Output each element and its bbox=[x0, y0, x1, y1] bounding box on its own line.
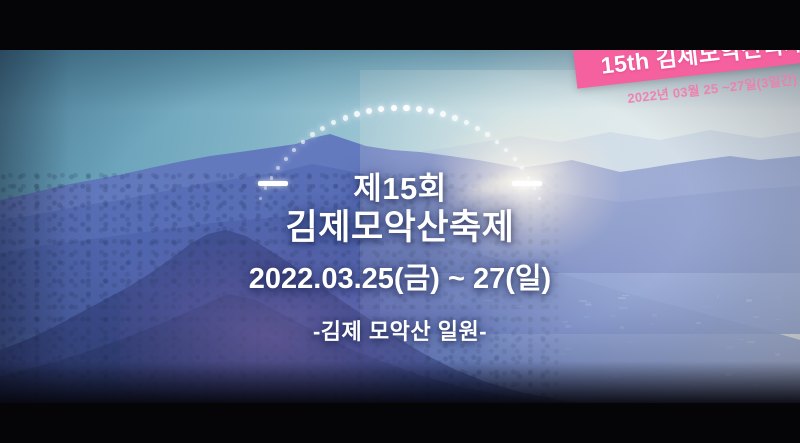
village-speck bbox=[746, 299, 752, 302]
village-speck bbox=[425, 323, 432, 324]
village-speck bbox=[731, 385, 735, 386]
village-speck bbox=[461, 303, 464, 306]
village-speck bbox=[692, 384, 697, 387]
village-speck bbox=[493, 369, 499, 370]
village-speck bbox=[688, 379, 693, 381]
village-speck bbox=[562, 321, 568, 323]
village-speck bbox=[488, 292, 494, 293]
village-speck bbox=[582, 383, 591, 386]
village-speck bbox=[597, 390, 603, 392]
village-speck bbox=[565, 348, 571, 350]
village-speck bbox=[696, 322, 701, 324]
village-speck bbox=[452, 316, 460, 319]
village-speck bbox=[593, 390, 597, 392]
village-speck bbox=[613, 375, 620, 378]
village-speck bbox=[701, 306, 709, 307]
village-speck bbox=[565, 325, 571, 328]
village-speck bbox=[747, 341, 755, 343]
village-speck bbox=[505, 360, 513, 362]
letterbox-top bbox=[0, 0, 800, 50]
village-speck bbox=[483, 300, 492, 301]
village-speck bbox=[432, 355, 440, 357]
village-speck bbox=[653, 390, 662, 392]
village-speck bbox=[559, 353, 566, 356]
village-speck bbox=[509, 338, 512, 340]
village-speck bbox=[619, 307, 628, 310]
village-speck bbox=[441, 338, 448, 339]
village-speck bbox=[651, 323, 655, 324]
village-speck bbox=[445, 352, 451, 355]
village-speck bbox=[668, 388, 674, 391]
village-speck bbox=[610, 315, 616, 317]
village-speck bbox=[400, 325, 403, 327]
village-speck bbox=[560, 389, 566, 392]
village-speck bbox=[544, 295, 551, 298]
village-speck bbox=[627, 341, 634, 342]
village-speck bbox=[443, 381, 451, 384]
village-speck bbox=[450, 374, 457, 376]
village-speck bbox=[429, 376, 433, 379]
village-speck bbox=[603, 377, 607, 380]
village-speck bbox=[738, 339, 744, 340]
village-speck bbox=[690, 327, 694, 329]
village-speck bbox=[478, 359, 486, 362]
village-speck bbox=[538, 370, 542, 372]
video-frame: 제15회 김제모악산축제 2022.03.25(금) ~ 27(일) -김제 모… bbox=[0, 0, 800, 443]
village-speck bbox=[620, 326, 624, 329]
village-speck bbox=[753, 316, 759, 319]
village-speck bbox=[776, 319, 781, 320]
village-speck bbox=[726, 346, 735, 349]
village-speck bbox=[543, 373, 549, 374]
village-speck bbox=[618, 297, 626, 299]
village-speck bbox=[645, 373, 647, 374]
village-speck bbox=[405, 390, 408, 392]
landscape-photo bbox=[0, 50, 800, 403]
village-speck bbox=[650, 383, 652, 384]
village-speck bbox=[585, 302, 591, 305]
village-speck bbox=[406, 367, 409, 369]
village-speck bbox=[753, 384, 759, 387]
village-speck bbox=[717, 295, 719, 298]
village-speck bbox=[393, 297, 398, 300]
valley-village bbox=[380, 273, 800, 403]
village-speck bbox=[516, 306, 523, 307]
village-speck bbox=[622, 295, 629, 296]
village-speck bbox=[490, 352, 498, 354]
village-speck bbox=[725, 373, 732, 376]
village-speck bbox=[775, 353, 781, 356]
village-speck bbox=[454, 351, 460, 353]
village-speck bbox=[777, 297, 781, 299]
village-speck bbox=[584, 316, 589, 318]
village-speck bbox=[652, 314, 657, 317]
village-speck bbox=[457, 366, 464, 367]
letterbox-bottom bbox=[0, 403, 800, 443]
